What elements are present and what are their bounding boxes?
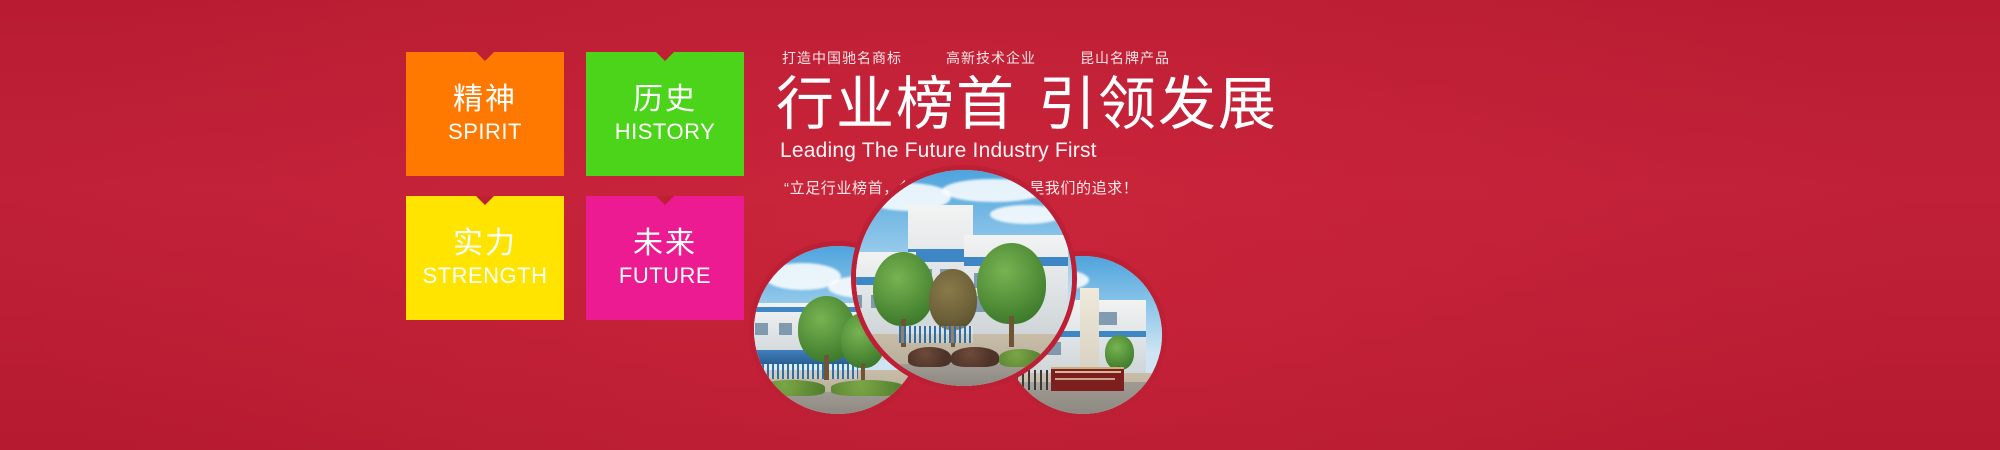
tile-strength-label-cn: 实力 [453, 229, 517, 259]
headline-part-1: 行业榜首 [776, 72, 1016, 137]
value-tile-grid: 精神 SPIRIT 历史 HISTORY 实力 STRENGTH 未来 FUTU… [406, 52, 744, 320]
tile-spirit-label-en: SPIRIT [448, 121, 522, 143]
tile-spirit-label-cn: 精神 [453, 85, 517, 115]
promo-banner: 精神 SPIRIT 历史 HISTORY 实力 STRENGTH 未来 FUTU… [0, 0, 2000, 450]
tile-history-label-en: HISTORY [615, 121, 716, 143]
tagline-row: 打造中国驰名商标 高新技术企业 昆山名牌产品 [782, 48, 1478, 68]
notch-triangle-icon [656, 52, 674, 61]
factory-office-building-photo [856, 170, 1072, 386]
headline-subtitle: Leading The Future Industry First [780, 139, 1478, 163]
photo-bubble-center [856, 170, 1072, 386]
tile-history[interactable]: 历史 HISTORY [586, 52, 744, 176]
tile-future-label-cn: 未来 [633, 229, 697, 259]
tile-future-label-en: FUTURE [619, 265, 711, 287]
tile-future[interactable]: 未来 FUTURE [586, 196, 744, 320]
headline-part-2: 引领发展 [1038, 72, 1278, 137]
notch-triangle-icon [476, 52, 494, 61]
tagline-item-3: 昆山名牌产品 [1080, 48, 1170, 68]
tagline-item-1: 打造中国驰名商标 [782, 48, 902, 68]
tile-spirit[interactable]: 精神 SPIRIT [406, 52, 564, 176]
page-title: 行业榜首引领发展 [776, 74, 1478, 135]
tile-history-label-cn: 历史 [633, 85, 697, 115]
notch-triangle-icon [656, 196, 674, 205]
notch-triangle-icon [476, 196, 494, 205]
photo-cloud-montage [752, 170, 1172, 450]
tile-strength[interactable]: 实力 STRENGTH [406, 196, 564, 320]
tagline-item-2: 高新技术企业 [946, 48, 1036, 68]
tile-strength-label-en: STRENGTH [423, 265, 548, 287]
